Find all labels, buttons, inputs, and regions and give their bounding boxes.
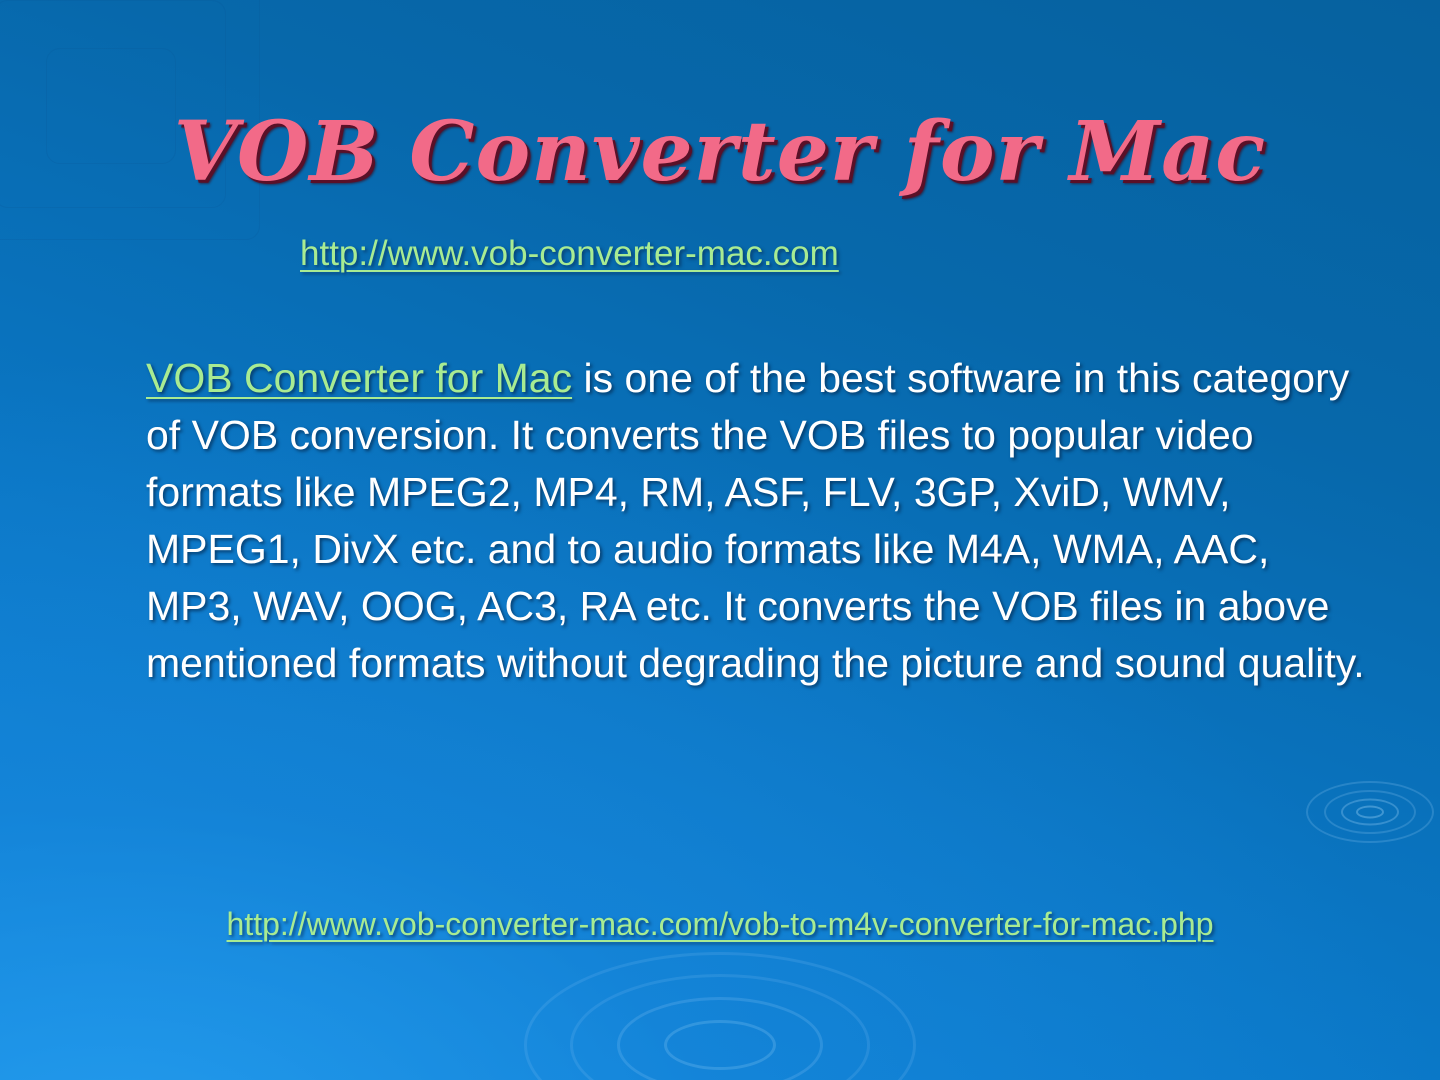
ripple-ring: [617, 997, 823, 1080]
ripple-ring: [1341, 799, 1399, 826]
slide-title: VOB Converter for Mac: [0, 104, 1440, 200]
slide-body-paragraph: VOB Converter for Mac is one of the best…: [146, 350, 1368, 692]
water-ripple-decoration-right: [1280, 742, 1440, 882]
ripple-ring: [664, 1020, 776, 1070]
ripple-ring: [1356, 806, 1384, 819]
water-ripple-decoration-bottom: [510, 960, 930, 1080]
header-website-link[interactable]: http://www.vob-converter-mac.com: [300, 234, 839, 274]
ripple-ring: [524, 952, 916, 1080]
ripple-ring: [1324, 790, 1416, 834]
footer-website-link[interactable]: http://www.vob-converter-mac.com/vob-to-…: [0, 906, 1440, 943]
brand-product-link[interactable]: VOB Converter for Mac: [146, 355, 572, 401]
presentation-slide: VOB Converter for Mac http://www.vob-con…: [0, 0, 1440, 1080]
slide-body-text: is one of the best software in this cate…: [146, 355, 1365, 686]
ripple-ring: [570, 974, 870, 1080]
ripple-ring: [1306, 781, 1434, 843]
